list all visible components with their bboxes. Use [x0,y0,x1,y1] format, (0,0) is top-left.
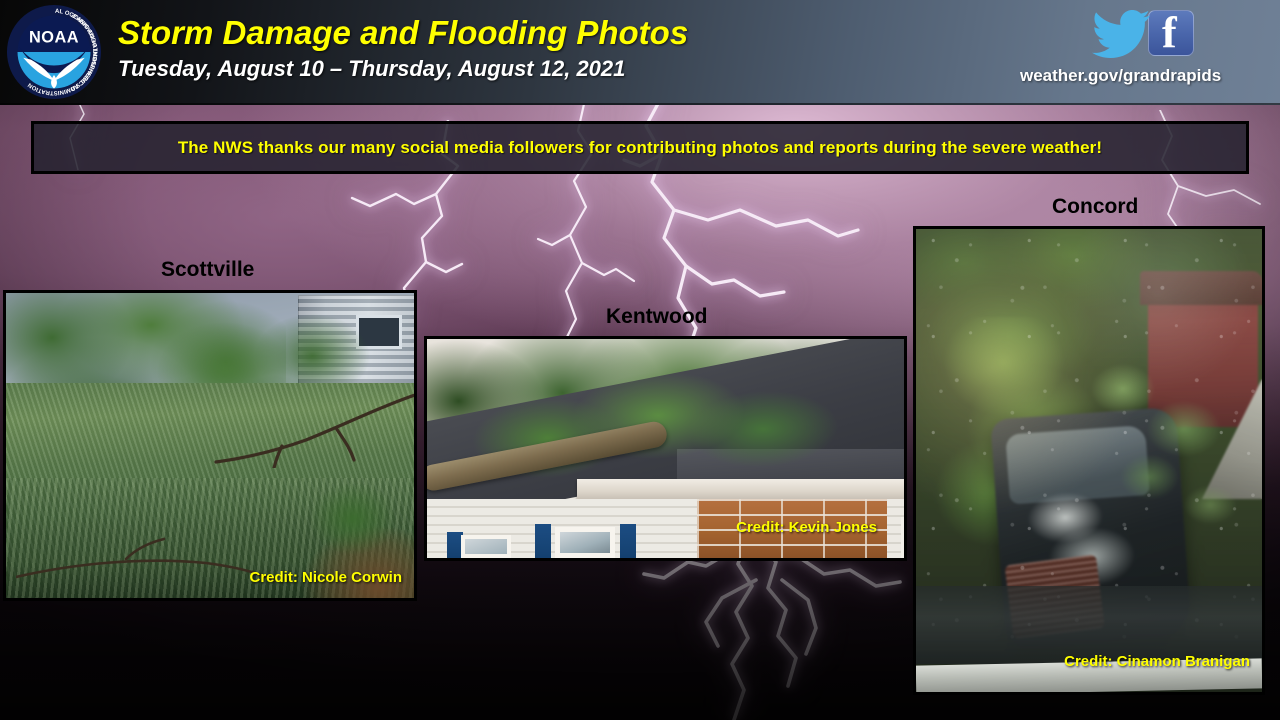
photo-label-concord: Concord [1052,195,1138,219]
photo-credit-scottville: Credit: Nicole Corwin [249,569,402,586]
photo-label-scottville: Scottville [161,258,254,282]
twitter-icon[interactable] [1092,8,1152,58]
scottville-foreground-stick [16,533,276,593]
scottville-shrub [298,468,408,560]
kentwood-window-mid [555,527,615,558]
photo-credit-kentwood: Credit: Kevin Jones [736,519,877,536]
kentwood-shutter-b [620,524,636,558]
social-icons[interactable] [1092,8,1194,58]
photo-credit-concord: Credit: Cinamon Branigan [1064,653,1250,670]
header-divider [0,103,1280,105]
page-title: Storm Damage and Flooding Photos [118,14,688,52]
photo-label-kentwood: Kentwood [606,305,707,329]
thanks-banner: The NWS thanks our many social media fol… [31,121,1249,174]
photo-scottville[interactable]: Credit: Nicole Corwin [3,290,417,601]
photo-kentwood[interactable]: Credit: Kevin Jones [424,336,907,561]
page-subtitle: Tuesday, August 10 – Thursday, August 12… [118,54,688,84]
thanks-banner-text: The NWS thanks our many social media fol… [178,138,1102,158]
kentwood-shutter-a [535,524,551,558]
photo-concord[interactable]: Credit: Cinamon Branigan [913,226,1265,695]
noaa-logo: NOAA NATIONAL OCEANIC AND ATMOSPHERIC AD… [6,4,102,100]
slide-canvas: NOAA NATIONAL OCEANIC AND ATMOSPHERIC AD… [0,0,1280,720]
kentwood-window-left [461,535,511,558]
title-block: Storm Damage and Flooding Photos Tuesday… [118,14,688,84]
kentwood-window-right [901,517,907,558]
kentwood-fallen-tree-canopy [464,357,870,498]
office-url[interactable]: weather.gov/grandrapids [1020,64,1272,88]
scottville-broken-branch [186,388,417,468]
facebook-icon[interactable] [1148,10,1194,56]
header-bar: NOAA NATIONAL OCEANIC AND ATMOSPHERIC AD… [0,0,1280,105]
kentwood-fascia-right [577,479,907,501]
svg-text:NOAA: NOAA [29,28,79,46]
